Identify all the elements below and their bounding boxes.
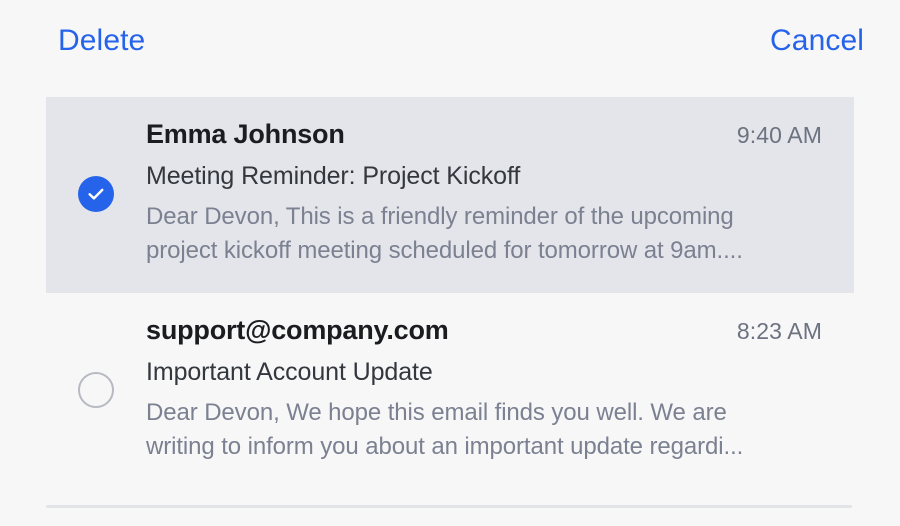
email-content: Emma Johnson 9:40 AM Meeting Reminder: P… bbox=[146, 119, 854, 269]
email-header-line: Emma Johnson 9:40 AM bbox=[146, 119, 822, 151]
email-preview: Dear Devon, We hope this email finds you… bbox=[146, 396, 791, 465]
email-timestamp: 9:40 AM bbox=[737, 122, 822, 149]
email-timestamp: 8:23 AM bbox=[737, 318, 822, 345]
delete-button[interactable]: Delete bbox=[58, 26, 145, 56]
email-list-item[interactable]: support@company.com 8:23 AM Important Ac… bbox=[46, 293, 854, 489]
email-sender: support@company.com bbox=[146, 315, 449, 347]
circle-outline-icon[interactable] bbox=[78, 372, 114, 408]
email-subject: Meeting Reminder: Project Kickoff bbox=[146, 161, 822, 191]
list-divider bbox=[46, 505, 852, 508]
email-content: support@company.com 8:23 AM Important Ac… bbox=[146, 315, 854, 465]
email-header-line: support@company.com 8:23 AM bbox=[146, 315, 822, 347]
email-preview: Dear Devon, This is a friendly reminder … bbox=[146, 200, 791, 269]
checkbox-cell bbox=[46, 315, 146, 465]
email-sender: Emma Johnson bbox=[146, 119, 345, 151]
email-list: Emma Johnson 9:40 AM Meeting Reminder: P… bbox=[0, 97, 900, 489]
cancel-button[interactable]: Cancel bbox=[770, 26, 864, 56]
checkbox-cell bbox=[46, 119, 146, 269]
email-list-item-selected[interactable]: Emma Johnson 9:40 AM Meeting Reminder: P… bbox=[46, 97, 854, 293]
action-bar: Delete Cancel bbox=[0, 0, 900, 82]
email-subject: Important Account Update bbox=[146, 357, 822, 387]
check-circle-filled-icon[interactable] bbox=[78, 176, 114, 212]
mail-selection-screen: Delete Cancel Emma Johnson 9:40 AM Meeti… bbox=[0, 0, 900, 526]
